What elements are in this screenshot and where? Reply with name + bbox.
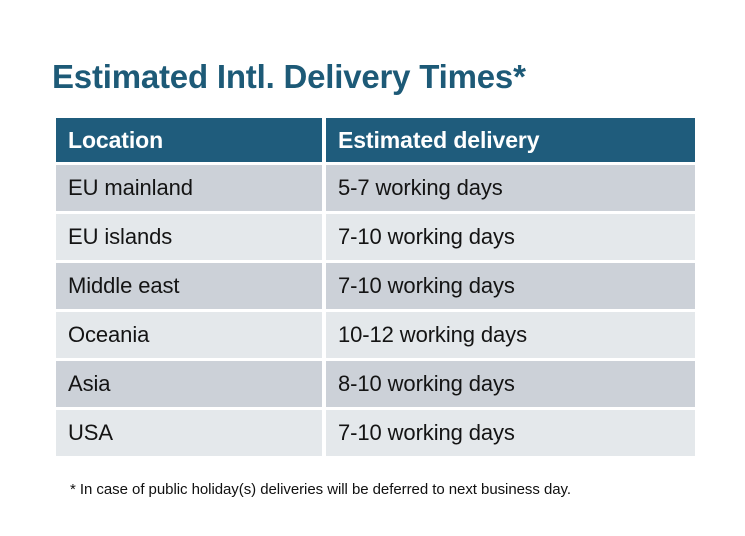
column-header-estimated-delivery: Estimated delivery: [326, 118, 695, 162]
cell-location: Middle east: [56, 263, 322, 309]
table-row: Asia 8-10 working days: [56, 361, 695, 407]
estimated-delivery-table: Location Estimated delivery EU mainland …: [52, 115, 699, 459]
cell-delivery: 8-10 working days: [326, 361, 695, 407]
cell-location: Oceania: [56, 312, 322, 358]
cell-location: EU islands: [56, 214, 322, 260]
cell-location: Asia: [56, 361, 322, 407]
table-row: Middle east 7-10 working days: [56, 263, 695, 309]
table-header-row: Location Estimated delivery: [56, 118, 695, 162]
table-row: USA 7-10 working days: [56, 410, 695, 456]
cell-delivery: 7-10 working days: [326, 214, 695, 260]
cell-delivery: 7-10 working days: [326, 263, 695, 309]
cell-location: USA: [56, 410, 322, 456]
column-header-location: Location: [56, 118, 322, 162]
cell-delivery: 5-7 working days: [326, 165, 695, 211]
table-header: Location Estimated delivery: [56, 118, 695, 162]
cell-delivery: 10-12 working days: [326, 312, 695, 358]
page-title: Estimated Intl. Delivery Times*: [52, 58, 526, 96]
table-body: EU mainland 5-7 working days EU islands …: [56, 165, 695, 456]
table-row: Oceania 10-12 working days: [56, 312, 695, 358]
footnote-text: * In case of public holiday(s) deliverie…: [70, 481, 571, 498]
table-row: EU islands 7-10 working days: [56, 214, 695, 260]
cell-delivery: 7-10 working days: [326, 410, 695, 456]
cell-location: EU mainland: [56, 165, 322, 211]
delivery-times-document: Estimated Intl. Delivery Times* Location…: [0, 0, 745, 536]
table-row: EU mainland 5-7 working days: [56, 165, 695, 211]
